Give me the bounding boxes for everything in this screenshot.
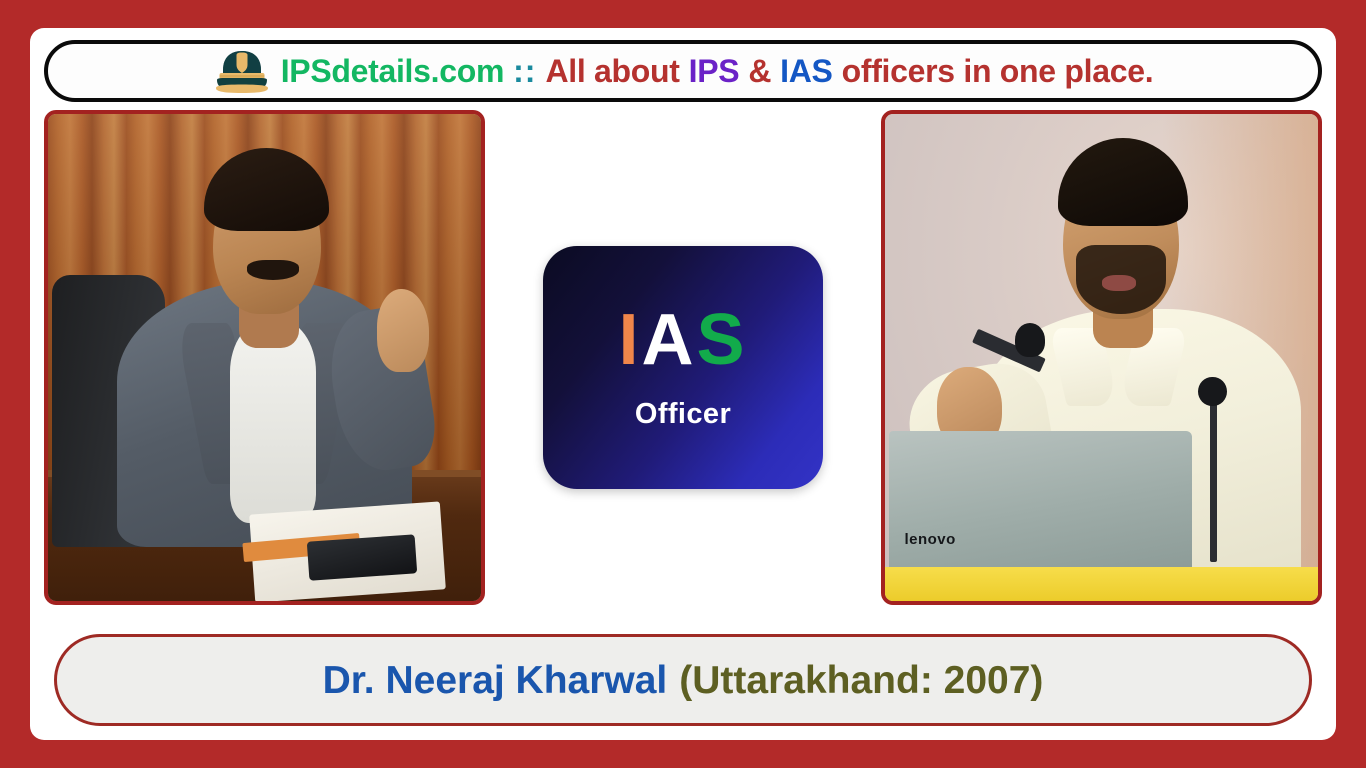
ias-badge-subtitle: Officer xyxy=(635,398,731,431)
officer-podium-photo-content: lenovo xyxy=(885,114,1318,601)
ias-badge-letters: I A S xyxy=(618,304,747,376)
lenovo-laptop: lenovo xyxy=(889,431,1192,567)
site-header-banner: IPSdetails.com :: All about IPS & IAS of… xyxy=(44,40,1322,102)
mobile-phone xyxy=(307,534,418,580)
podium-microphone-stand xyxy=(1210,392,1217,562)
mouth xyxy=(1102,275,1137,292)
tagline-part-1: All about xyxy=(545,55,679,87)
handheld-microphone-head xyxy=(1015,323,1045,357)
header-separator: :: xyxy=(513,55,536,87)
officer-name-bar: Dr. Neeraj Kharwal (Uttarakhand: 2007) xyxy=(54,634,1312,726)
tagline-ias-label: IAS xyxy=(780,55,832,87)
podium-microphone-head xyxy=(1198,377,1226,406)
media-row: I A S Officer xyxy=(44,102,1322,628)
tagline-part-2: officers in one place. xyxy=(842,55,1154,87)
officer-desk-photo xyxy=(44,110,485,605)
ias-letter-s: S xyxy=(696,304,747,376)
ias-letter-i: I xyxy=(618,304,641,376)
gesturing-hand xyxy=(377,289,429,372)
officer-desk-photo-content xyxy=(48,114,481,601)
officer-name-text: Dr. Neeraj Kharwal (Uttarakhand: 2007) xyxy=(323,661,1044,700)
dress-shirt xyxy=(230,319,317,524)
police-cap-icon xyxy=(213,47,271,95)
tagline-ips-label: IPS xyxy=(689,55,740,87)
page-root: IPSdetails.com :: All about IPS & IAS of… xyxy=(0,0,1366,768)
officer-name: Dr. Neeraj Kharwal xyxy=(323,661,668,700)
profile-card: IPSdetails.com :: All about IPS & IAS of… xyxy=(30,28,1336,740)
tagline-ampersand: & xyxy=(748,55,771,87)
site-header-text: IPSdetails.com :: All about IPS & IAS of… xyxy=(281,55,1154,87)
moustache xyxy=(247,260,299,279)
officer-cadre-batch: (Uttarakhand: 2007) xyxy=(679,661,1043,700)
ias-officer-badge: I A S Officer xyxy=(543,246,823,489)
officer-podium-photo: lenovo xyxy=(881,110,1322,605)
lenovo-logo: lenovo xyxy=(904,531,955,548)
site-name: IPSdetails.com xyxy=(281,55,504,87)
podium-yellow-strip xyxy=(885,567,1318,601)
ias-letter-a: A xyxy=(641,304,696,376)
